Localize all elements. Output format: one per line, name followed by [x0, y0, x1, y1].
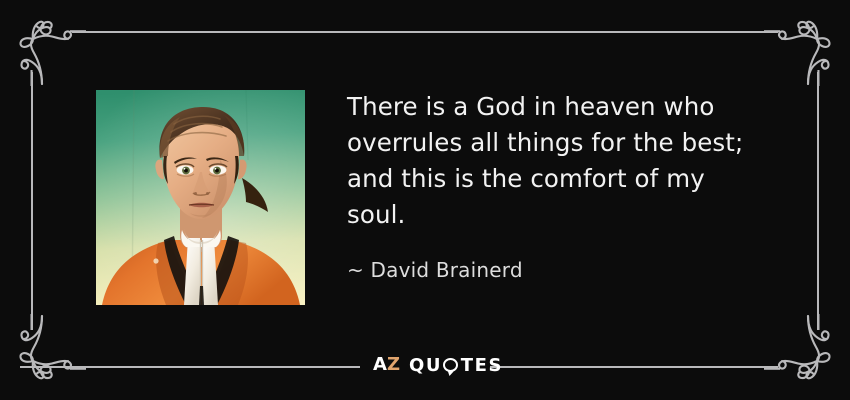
- corner-flourish-top-left: [8, 8, 86, 86]
- logo-letter-s: S: [489, 355, 504, 376]
- corner-flourish-top-right: [764, 8, 842, 86]
- portrait-image: [96, 90, 305, 305]
- logo-letter-e: E: [475, 355, 489, 376]
- frame-line-bottom-right: [490, 366, 778, 368]
- corner-flourish-icon: [764, 8, 842, 86]
- speech-bubble-icon: [443, 358, 458, 373]
- corner-flourish-icon: [8, 8, 86, 86]
- logo-letter-t: T: [461, 355, 475, 376]
- logo-letter-a: A: [373, 354, 387, 376]
- corner-flourish-icon: [764, 314, 842, 392]
- azquotes-logo[interactable]: A Z Q U T E S: [373, 354, 503, 376]
- quote-block: There is a God in heaven who overrules a…: [347, 89, 767, 283]
- quote-text: There is a God in heaven who overrules a…: [347, 89, 767, 233]
- logo-letter-z: Z: [387, 354, 400, 376]
- logo-letter-u: U: [426, 355, 442, 376]
- quote-card: There is a God in heaven who overrules a…: [0, 0, 850, 400]
- frame-line-top: [72, 31, 778, 33]
- corner-flourish-bottom-right: [764, 314, 842, 392]
- frame-line-left: [31, 72, 33, 330]
- quote-author: ~ David Brainerd: [347, 257, 767, 283]
- corner-flourish-bottom-left: [8, 314, 86, 392]
- frame-line-right: [817, 72, 819, 330]
- corner-flourish-icon: [8, 314, 86, 392]
- author-portrait: [96, 90, 305, 305]
- logo-letter-q: Q: [409, 355, 426, 376]
